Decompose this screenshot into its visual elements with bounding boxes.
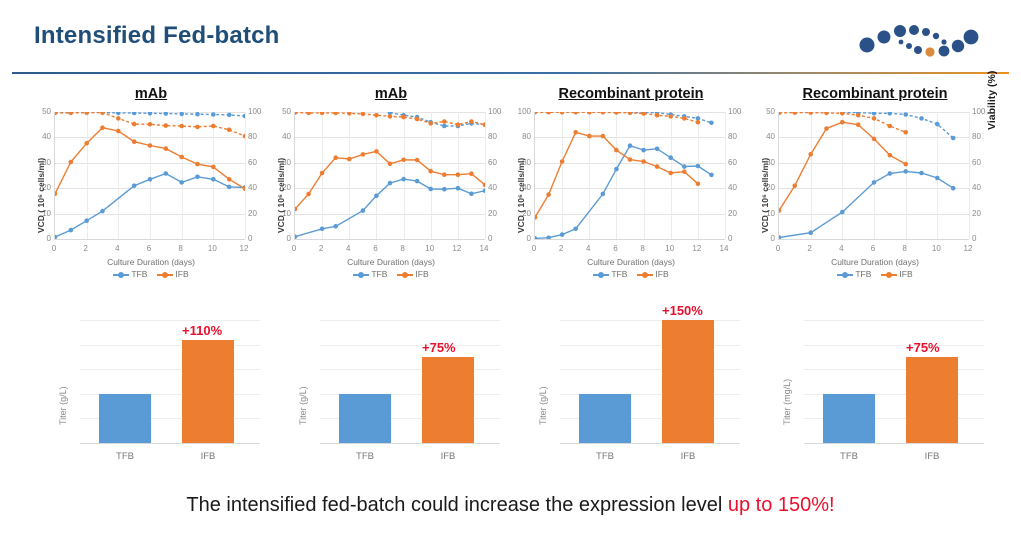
- y2-axis-tick: 80: [488, 133, 508, 141]
- data-point: [587, 112, 592, 115]
- data-point: [132, 122, 137, 127]
- x-axis-tick: 4: [580, 245, 596, 253]
- data-point: [951, 136, 956, 141]
- bar-tfb[interactable]: [579, 394, 631, 443]
- x-axis-tick: 14: [476, 245, 492, 253]
- data-point: [535, 215, 537, 220]
- data-point: [227, 128, 232, 133]
- chart-title: mAb: [268, 86, 514, 102]
- legend-marker-icon: [593, 271, 609, 278]
- data-point: [919, 116, 924, 121]
- y2-axis-tick: 20: [248, 210, 268, 218]
- y2-axis-tick: 20: [488, 210, 508, 218]
- data-point: [614, 167, 619, 172]
- data-point: [682, 116, 687, 121]
- plot-area: [320, 308, 500, 444]
- plot-area: [80, 308, 260, 444]
- data-point: [793, 112, 798, 115]
- data-point: [469, 192, 474, 197]
- data-point: [573, 112, 578, 115]
- data-point: [655, 113, 660, 118]
- data-point: [195, 162, 200, 167]
- data-point: [935, 176, 940, 181]
- data-point: [614, 148, 619, 153]
- y-axis-label: VCD ( 10⁶ cells/ml): [276, 158, 286, 233]
- data-point: [333, 224, 338, 229]
- x-axis-tick: 12: [236, 245, 252, 253]
- data-point: [888, 171, 893, 176]
- data-point: [856, 122, 861, 127]
- data-point: [347, 157, 352, 162]
- legend-marker-icon: [881, 271, 897, 278]
- legend-marker-icon: [637, 271, 653, 278]
- data-point: [374, 194, 379, 199]
- data-point: [601, 112, 606, 115]
- data-point: [69, 112, 74, 115]
- data-point: [709, 121, 714, 126]
- x-axis-tick: 8: [635, 245, 651, 253]
- data-point: [808, 112, 813, 115]
- data-point: [696, 120, 701, 125]
- series-layer: [535, 112, 725, 239]
- data-point: [709, 173, 714, 178]
- y2-axis-tick: 100: [728, 108, 748, 116]
- y2-axis-tick: 80: [248, 133, 268, 141]
- line-chart[interactable]: 01020304050020406080100024681012VCD ( 10…: [752, 106, 998, 291]
- data-point: [808, 230, 813, 235]
- y-axis-label: Titer (g/L): [298, 386, 308, 425]
- bar-ifb[interactable]: [422, 357, 474, 443]
- chart-legend: TFBIFB: [508, 269, 754, 279]
- caption-highlight: up to 150%!: [728, 494, 835, 516]
- growth-chart-panel-3: Recombinant protein 02040608010002040608…: [508, 86, 754, 291]
- data-point: [55, 112, 57, 115]
- data-point: [361, 112, 366, 116]
- x-axis-tick: 6: [367, 245, 383, 253]
- bar-ifb[interactable]: [662, 320, 714, 443]
- data-point: [872, 180, 877, 185]
- x-axis-tick: 2: [313, 245, 329, 253]
- data-point: [655, 164, 660, 169]
- data-point: [442, 119, 447, 124]
- data-point: [164, 171, 169, 176]
- series-line-tfb: [55, 174, 245, 238]
- legend-item-ifb[interactable]: IFB: [881, 269, 912, 279]
- y2-axis-tick: 80: [972, 133, 992, 141]
- data-point: [903, 130, 908, 135]
- data-point: [306, 192, 311, 197]
- data-point: [428, 169, 433, 174]
- slide-header: Intensified Fed-batch: [0, 0, 1021, 78]
- series-line-ifb: [295, 151, 485, 209]
- data-point: [361, 152, 366, 157]
- percent-increase-label: +75%: [422, 340, 456, 355]
- y-axis-label: VCD ( 10⁶ cells/ml): [36, 158, 46, 233]
- data-point: [361, 208, 366, 213]
- bar-category-label: TFB: [90, 451, 160, 462]
- data-point: [84, 141, 89, 146]
- bar-category-label: IFB: [897, 451, 967, 462]
- gridline: [320, 320, 500, 321]
- x-axis-tick: 2: [553, 245, 569, 253]
- data-point: [333, 112, 338, 115]
- data-point: [227, 113, 232, 118]
- data-point: [415, 117, 420, 122]
- data-point: [641, 148, 646, 153]
- y2-axis-tick: 60: [488, 159, 508, 167]
- data-point: [84, 112, 89, 115]
- data-point: [295, 234, 297, 239]
- titer-chart-panel-1[interactable]: TFBIFB+110%Titer (g/L): [28, 300, 274, 485]
- legend-item-ifb[interactable]: IFB: [637, 269, 668, 279]
- data-point: [546, 112, 551, 115]
- data-point: [132, 183, 137, 188]
- chart-legend: TFBIFB: [268, 269, 514, 279]
- x-axis-tick: 10: [662, 245, 678, 253]
- gridline: [969, 112, 970, 239]
- gridline: [245, 112, 246, 239]
- chart-legend: TFBIFB: [752, 269, 998, 279]
- chart-legend: TFBIFB: [28, 269, 274, 279]
- gridline: [80, 320, 260, 321]
- data-point: [535, 112, 537, 115]
- series-line-tfb: [779, 171, 953, 237]
- data-point: [903, 112, 908, 117]
- x-axis-tick: 10: [928, 245, 944, 253]
- data-point: [179, 124, 184, 129]
- plot-area: [294, 112, 485, 240]
- data-point: [456, 172, 461, 177]
- data-point: [195, 125, 200, 130]
- data-point: [779, 208, 781, 213]
- data-point: [100, 112, 105, 115]
- y-axis-tick: 100: [511, 108, 531, 116]
- data-point: [243, 134, 245, 139]
- legend-item-ifb[interactable]: IFB: [397, 269, 428, 279]
- legend-item-tfb[interactable]: TFB: [837, 269, 871, 279]
- x-axis-tick: 4: [109, 245, 125, 253]
- data-point: [824, 126, 829, 131]
- data-point: [696, 164, 701, 169]
- titer-chart-panel-4[interactable]: TFBIFB+75%Titer (mg/L): [752, 300, 998, 485]
- bar-ifb[interactable]: [906, 357, 958, 443]
- data-point: [888, 112, 893, 116]
- data-point: [779, 112, 781, 115]
- chart-title: mAb: [28, 86, 274, 102]
- data-point: [919, 171, 924, 176]
- data-point: [116, 116, 121, 121]
- x-axis-tick: 2: [78, 245, 94, 253]
- data-point: [469, 171, 474, 176]
- data-point: [840, 112, 845, 116]
- data-point: [903, 162, 908, 167]
- series-layer: [779, 112, 969, 239]
- data-point: [560, 112, 565, 115]
- series-line-ifb: [55, 128, 245, 194]
- data-point: [682, 169, 687, 174]
- data-point: [415, 179, 420, 184]
- data-point: [668, 171, 673, 176]
- x-axis-tick: 8: [395, 245, 411, 253]
- bar-ifb[interactable]: [182, 340, 234, 443]
- data-point: [573, 130, 578, 135]
- y2-axis-tick: 40: [728, 184, 748, 192]
- data-point: [374, 113, 379, 118]
- data-point: [116, 129, 121, 134]
- bar-category-label: TFB: [570, 451, 640, 462]
- y2-axis-tick: 100: [488, 108, 508, 116]
- y-axis-tick: 50: [755, 108, 775, 116]
- y-axis-tick: 40: [31, 133, 51, 141]
- data-point: [793, 183, 798, 188]
- y-axis-tick: 80: [511, 133, 531, 141]
- slide-caption: The intensified fed-batch could increase…: [0, 494, 1021, 517]
- data-point: [148, 143, 153, 148]
- data-point: [872, 116, 877, 121]
- y-axis-label: Titer (mg/L): [782, 379, 792, 425]
- x-axis-label: Culture Duration (days): [508, 257, 754, 267]
- data-point: [483, 188, 485, 193]
- data-point: [179, 180, 184, 185]
- x-axis-tick: 8: [897, 245, 913, 253]
- x-axis-tick: 0: [46, 245, 62, 253]
- data-point: [374, 149, 379, 154]
- data-point: [211, 124, 216, 129]
- data-point: [824, 112, 829, 115]
- legend-item-tfb[interactable]: TFB: [113, 269, 147, 279]
- x-axis-label: Culture Duration (days): [28, 257, 274, 267]
- legend-marker-icon: [837, 271, 853, 278]
- data-point: [903, 169, 908, 174]
- data-point: [116, 112, 121, 115]
- data-point: [320, 112, 325, 115]
- legend-item-tfb[interactable]: TFB: [593, 269, 627, 279]
- bar-category-label: IFB: [413, 451, 483, 462]
- y2-axis-tick: 60: [728, 159, 748, 167]
- x-axis-tick: 4: [833, 245, 849, 253]
- growth-chart-panel-2: mAb 0102030405002040608010002468101214VC…: [268, 86, 514, 291]
- y-axis-tick: 50: [31, 108, 51, 116]
- y-axis-tick: 0: [755, 235, 775, 243]
- data-point: [415, 158, 420, 163]
- titer-chart-panel-3[interactable]: TFBIFB+150%Titer (g/L): [508, 300, 754, 485]
- gridline: [804, 345, 984, 346]
- data-point: [628, 143, 633, 148]
- data-point: [148, 122, 153, 127]
- bar-tfb[interactable]: [99, 394, 151, 443]
- data-point: [442, 172, 447, 177]
- legend-marker-icon: [397, 271, 413, 278]
- data-point: [601, 192, 606, 197]
- data-point: [100, 125, 105, 130]
- gridline: [725, 112, 726, 239]
- plot-area: [804, 308, 984, 444]
- data-point: [601, 134, 606, 139]
- data-point: [668, 155, 673, 160]
- bar-category-label: TFB: [330, 451, 400, 462]
- series-line-ifb: [535, 132, 698, 217]
- gridline: [320, 345, 500, 346]
- data-point: [55, 192, 57, 197]
- line-chart[interactable]: 0102030405002040608010002468101214VCD ( …: [268, 106, 514, 291]
- data-point: [628, 112, 633, 115]
- data-point: [668, 114, 673, 119]
- data-point: [840, 210, 845, 215]
- data-point: [320, 227, 325, 232]
- legend-marker-icon: [157, 271, 173, 278]
- x-axis-tick: 14: [716, 245, 732, 253]
- percent-increase-label: +150%: [662, 303, 703, 318]
- bar-category-label: IFB: [653, 451, 723, 462]
- y-axis-tick: 0: [31, 235, 51, 243]
- data-point: [69, 228, 74, 233]
- gridline: [804, 320, 984, 321]
- caption-text: The intensified fed-batch could increase…: [186, 494, 727, 516]
- data-point: [69, 160, 74, 165]
- percent-increase-label: +110%: [182, 323, 222, 338]
- line-chart[interactable]: 02040608010002040608010002468101214VCD (…: [508, 106, 754, 291]
- data-point: [456, 122, 461, 127]
- data-point: [587, 134, 592, 139]
- data-point: [148, 177, 153, 182]
- legend-marker-icon: [113, 271, 129, 278]
- data-point: [100, 209, 105, 214]
- plot-area: [778, 112, 969, 240]
- data-point: [388, 181, 393, 186]
- data-point: [808, 152, 813, 157]
- y2-axis-tick: 40: [972, 184, 992, 192]
- x-axis-tick: 12: [689, 245, 705, 253]
- data-point: [164, 112, 169, 116]
- data-point: [696, 182, 701, 187]
- y2-axis-tick: 40: [248, 184, 268, 192]
- data-point: [546, 192, 551, 197]
- data-point: [469, 119, 474, 124]
- y2-axis-tick: 60: [248, 159, 268, 167]
- data-point: [935, 122, 940, 127]
- y-axis-label: Titer (g/L): [58, 386, 68, 425]
- growth-chart-panel-4: Recombinant protein 01020304050020406080…: [752, 86, 998, 291]
- line-chart[interactable]: 01020304050020406080100024681012VCD ( 10…: [28, 106, 274, 291]
- growth-chart-panel-1: mAb 01020304050020406080100024681012VCD …: [28, 86, 274, 291]
- chart-title: Recombinant protein: [508, 86, 754, 102]
- y2-axis-tick: 0: [728, 235, 748, 243]
- data-point: [872, 137, 877, 142]
- series-layer: [55, 112, 245, 239]
- data-point: [306, 112, 311, 115]
- data-point: [428, 187, 433, 192]
- bar-category-label: TFB: [814, 451, 884, 462]
- x-axis-label: Culture Duration (days): [268, 257, 514, 267]
- data-point: [243, 114, 245, 119]
- percent-increase-label: +75%: [906, 340, 940, 355]
- data-point: [295, 112, 297, 115]
- data-point: [347, 112, 352, 116]
- x-axis-tick: 6: [865, 245, 881, 253]
- y2-axis-tick: 60: [972, 159, 992, 167]
- data-point: [628, 157, 633, 162]
- data-point: [682, 164, 687, 169]
- x-axis-tick: 0: [770, 245, 786, 253]
- x-axis-tick: 10: [422, 245, 438, 253]
- titer-chart-panel-2[interactable]: TFBIFB+75%Titer (g/L): [268, 300, 514, 485]
- y2-axis-tick: 80: [728, 133, 748, 141]
- data-point: [333, 155, 338, 160]
- data-point: [211, 177, 216, 182]
- bar-tfb[interactable]: [823, 394, 875, 443]
- header-divider: [12, 72, 1009, 74]
- bar-tfb[interactable]: [339, 394, 391, 443]
- data-point: [401, 177, 406, 182]
- data-point: [888, 153, 893, 158]
- y2-axis-tick: 100: [248, 108, 268, 116]
- plot-area: [534, 112, 725, 240]
- data-point: [132, 112, 137, 115]
- data-point: [573, 227, 578, 232]
- data-point: [560, 159, 565, 164]
- x-axis-tick: 0: [286, 245, 302, 253]
- x-axis-tick: 10: [204, 245, 220, 253]
- data-point: [55, 235, 57, 239]
- y-axis-tick: 40: [755, 133, 775, 141]
- page-title: Intensified Fed-batch: [34, 22, 280, 50]
- x-axis-tick: 6: [141, 245, 157, 253]
- plot-area: [54, 112, 245, 240]
- data-point: [84, 218, 89, 223]
- y-axis-tick: 0: [271, 235, 291, 243]
- x-axis-tick: 12: [449, 245, 465, 253]
- y-axis-label: Titer (g/L): [538, 386, 548, 425]
- data-point: [442, 124, 447, 129]
- data-point: [179, 112, 184, 116]
- data-point: [872, 112, 877, 116]
- y-axis-label: VCD ( 10⁶ cells/ml): [760, 158, 770, 233]
- y-axis-tick: 0: [511, 235, 531, 243]
- data-point: [211, 165, 216, 170]
- data-point: [388, 114, 393, 119]
- x-axis-label: Culture Duration (days): [752, 257, 998, 267]
- data-point: [546, 235, 551, 239]
- y2-axis-tick: 0: [248, 235, 268, 243]
- y-axis-label: VCD ( 10⁶ cells/ml): [516, 158, 526, 233]
- series-layer: [295, 112, 485, 239]
- chart-title: Recombinant protein: [752, 86, 998, 102]
- x-axis-tick: 6: [607, 245, 623, 253]
- data-point: [388, 162, 393, 167]
- data-point: [211, 112, 216, 117]
- y-axis-tick: 40: [271, 133, 291, 141]
- y2-axis-tick: 0: [972, 235, 992, 243]
- plot-area: [560, 308, 740, 444]
- data-point: [320, 171, 325, 176]
- data-point: [164, 123, 169, 128]
- x-axis-tick: 12: [960, 245, 976, 253]
- series-line-ifb: [779, 122, 906, 210]
- data-point: [641, 159, 646, 164]
- data-point: [456, 186, 461, 191]
- x-axis-tick: 8: [173, 245, 189, 253]
- bar-category-label: IFB: [173, 451, 243, 462]
- right-axis-label: Viability (%): [986, 71, 998, 130]
- data-point: [483, 122, 485, 127]
- legend-item-tfb[interactable]: TFB: [353, 269, 387, 279]
- y2-axis-tick: 20: [728, 210, 748, 218]
- data-point: [856, 113, 861, 118]
- legend-marker-icon: [353, 271, 369, 278]
- data-point: [195, 112, 200, 117]
- legend-item-ifb[interactable]: IFB: [157, 269, 188, 279]
- data-point: [227, 185, 232, 190]
